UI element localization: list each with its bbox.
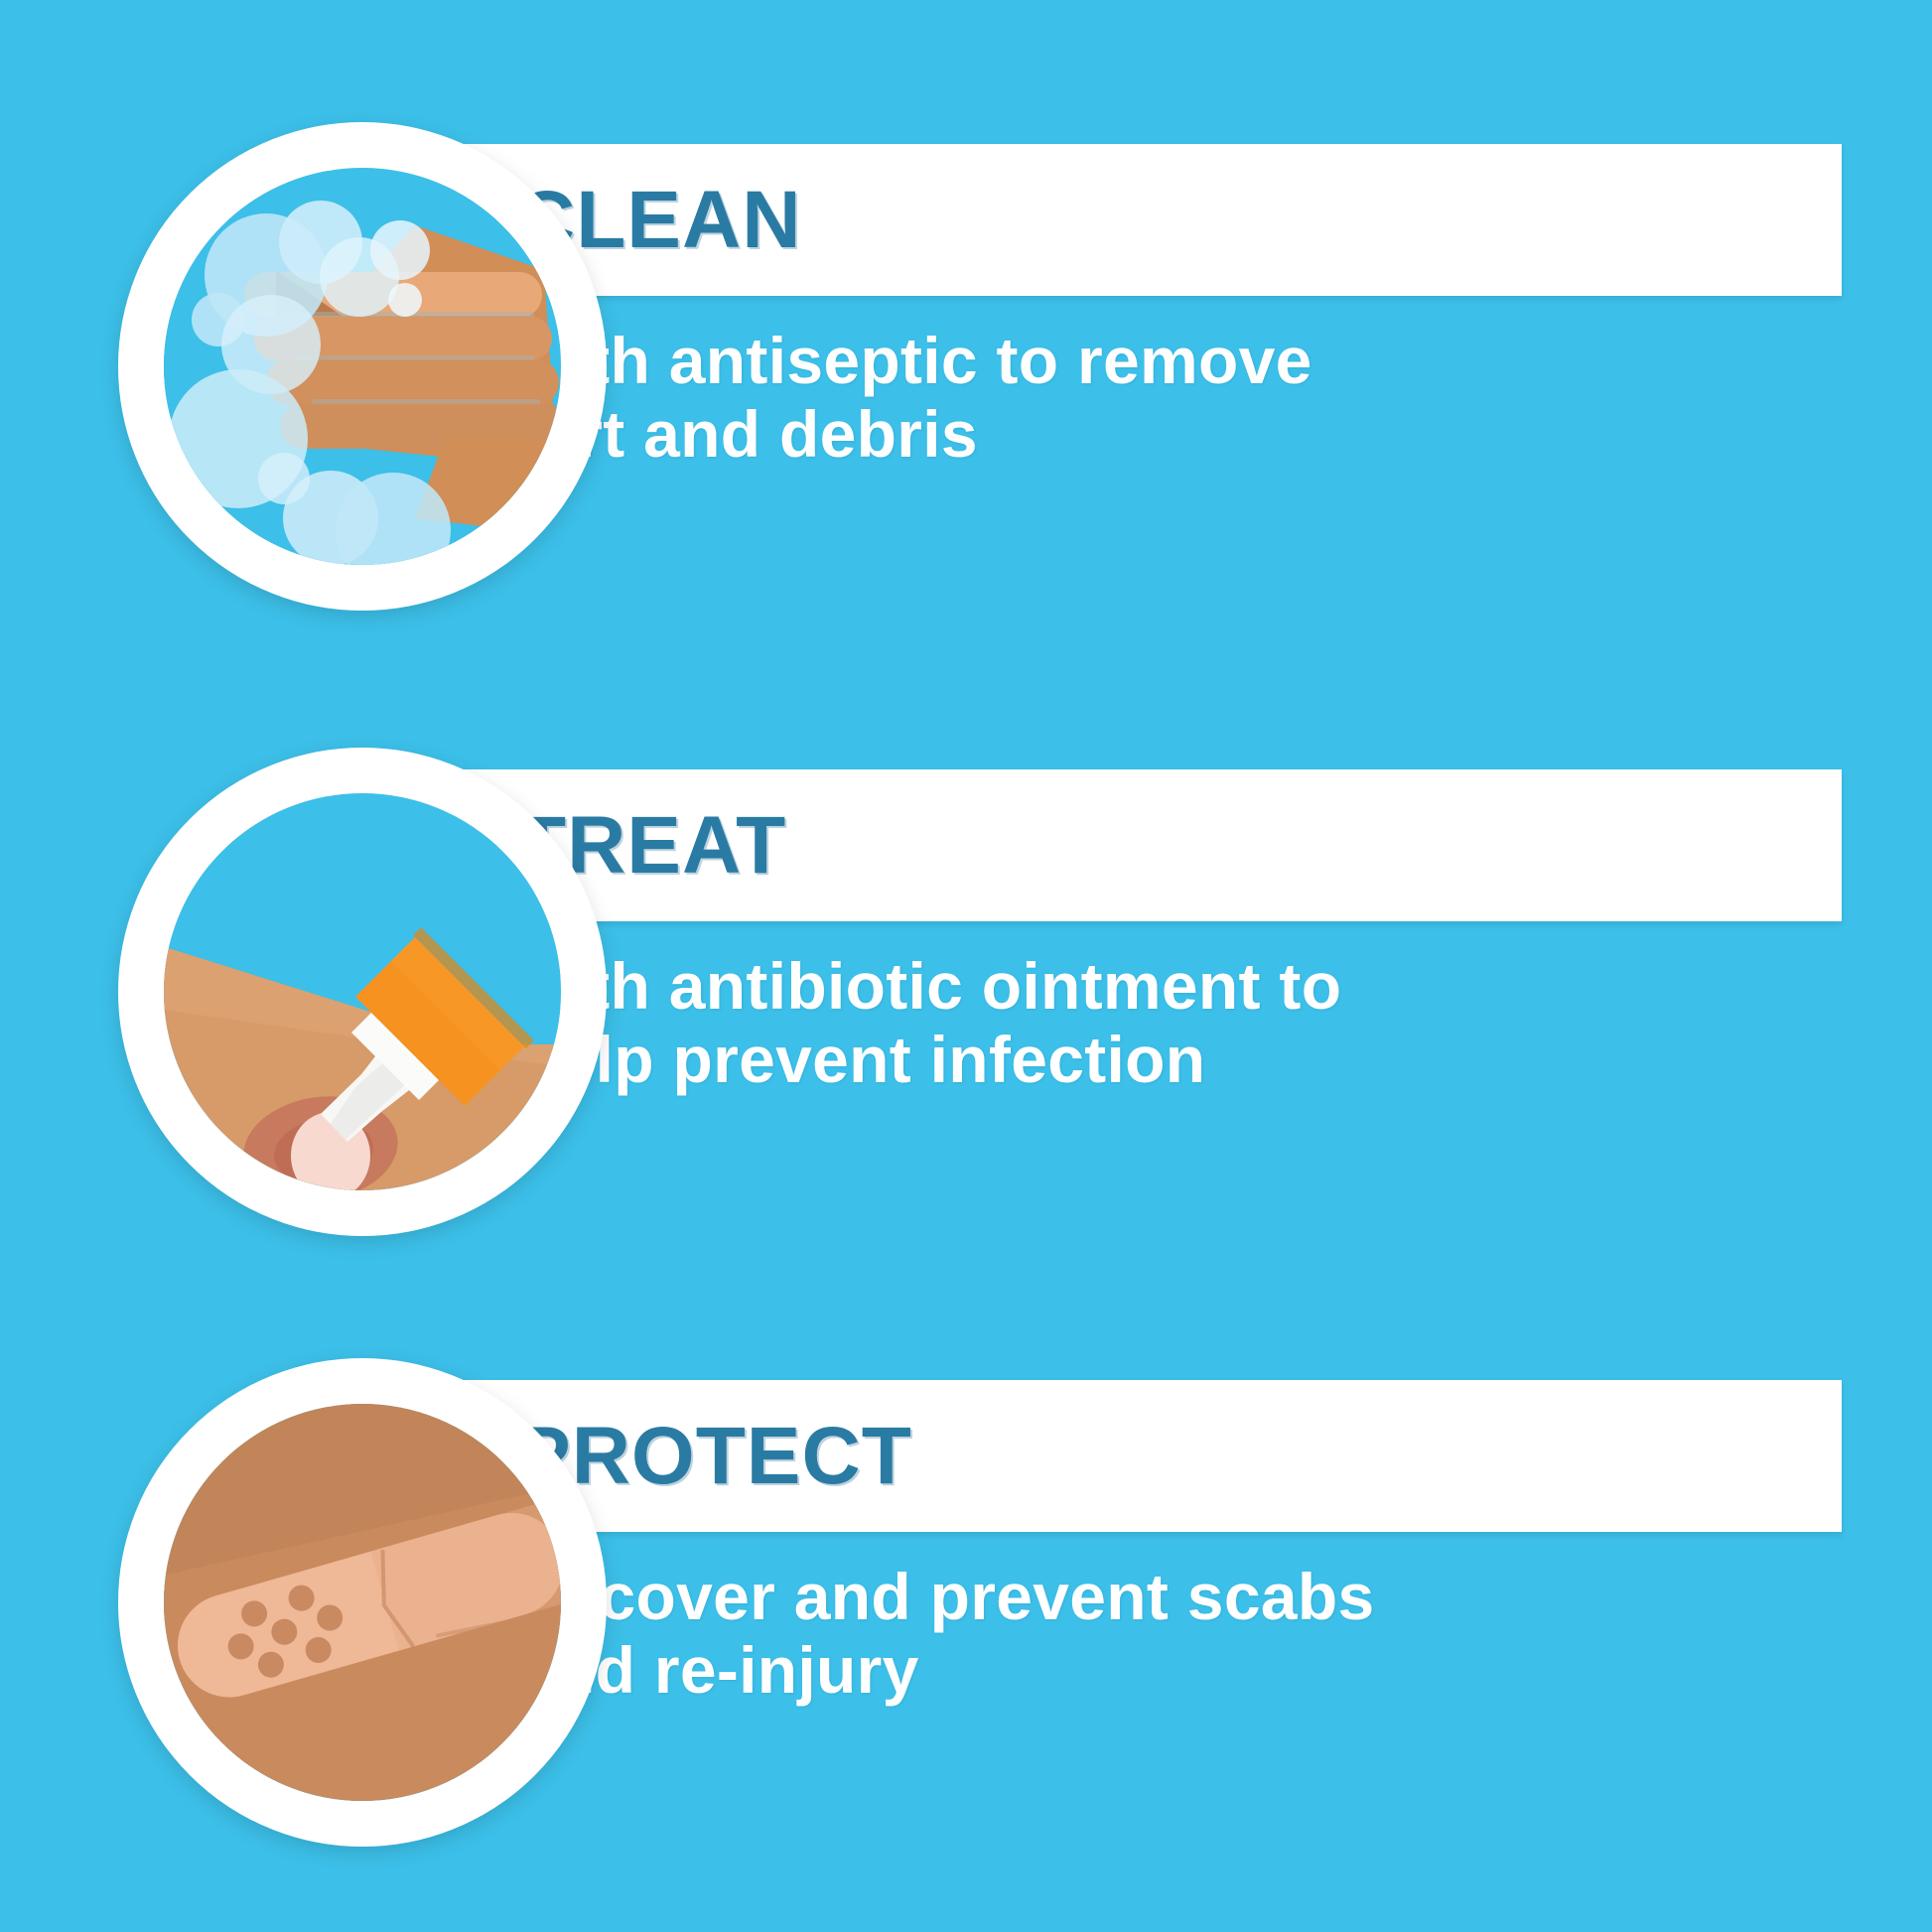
step-body-treat: with antibiotic ointment to help prevent… (518, 950, 1849, 1097)
body-line-2: help prevent infection (518, 1024, 1849, 1097)
hand-washing-with-soap-bubbles-icon (117, 121, 608, 612)
adhesive-bandage-on-skin-icon (117, 1357, 608, 1848)
infographic-page: CLEAN with antiseptic to remove dirt and… (0, 0, 1932, 1932)
step-body-protect: to cover and prevent scabs and re-injury (518, 1561, 1849, 1708)
step-treat: TREAT with antibiotic ointment to help p… (0, 737, 1932, 1233)
body-line-1: to cover and prevent scabs (518, 1561, 1849, 1634)
body-line-2: and re-injury (518, 1634, 1849, 1708)
body-line-1: with antibiotic ointment to (518, 950, 1849, 1024)
body-line-1: with antiseptic to remove (518, 325, 1849, 398)
ointment-tube-on-wound-icon (117, 747, 608, 1237)
step-body-clean: with antiseptic to remove dirt and debri… (518, 325, 1849, 472)
body-line-2: dirt and debris (518, 398, 1849, 472)
step-protect: PROTECT to cover and prevent scabs and r… (0, 1347, 1932, 1844)
step-clean: CLEAN with antiseptic to remove dirt and… (0, 111, 1932, 608)
